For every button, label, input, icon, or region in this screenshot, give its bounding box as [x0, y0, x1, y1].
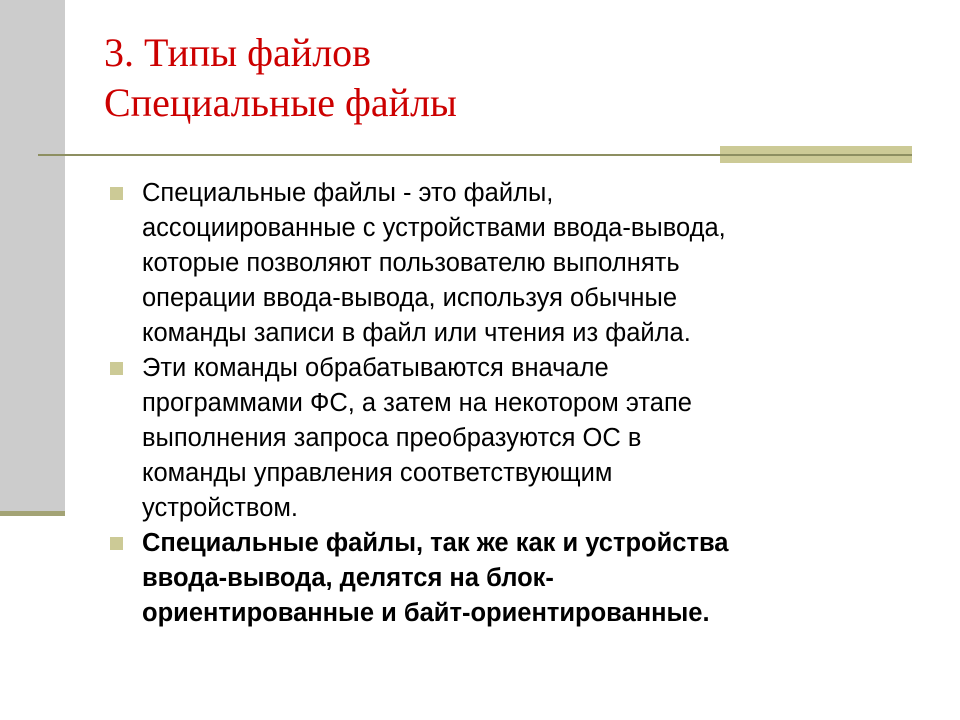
list-item: Специальные файлы, так же как и устройст… — [104, 526, 904, 631]
left-decoration-band — [0, 0, 65, 511]
slide-title: 3. Типы файлов Специальные файлы — [104, 28, 914, 128]
title-divider-line-overlay — [720, 154, 912, 156]
title-line-1: 3. Типы файлов — [104, 28, 914, 78]
slide-canvas: 3. Типы файлов Специальные файлы Специал… — [0, 0, 960, 720]
bullet-list: Специальные файлы - это файлы, ассоцииро… — [104, 176, 904, 631]
left-decoration-band-footer-bar — [0, 511, 65, 516]
list-item-text: Специальные файлы, так же как и устройст… — [142, 526, 904, 631]
square-bullet-icon — [110, 537, 123, 550]
square-bullet-icon — [110, 362, 123, 375]
list-item: Эти команды обрабатываются вначале прогр… — [104, 351, 904, 526]
list-item: Специальные файлы - это файлы, ассоцииро… — [104, 176, 904, 351]
title-line-2: Специальные файлы — [104, 78, 914, 128]
list-item-text: Эти команды обрабатываются вначале прогр… — [142, 351, 904, 526]
square-bullet-icon — [110, 187, 123, 200]
list-item-text: Специальные файлы - это файлы, ассоцииро… — [142, 176, 904, 351]
